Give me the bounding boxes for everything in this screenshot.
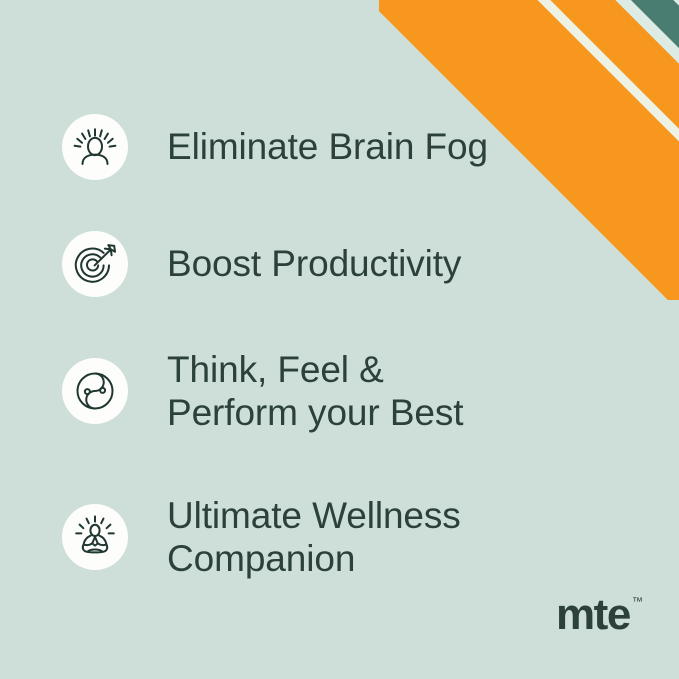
benefit-label: Boost Productivity [167, 242, 461, 286]
icon-badge [62, 358, 128, 424]
icon-badge [62, 231, 128, 297]
brand-logo: mte ™ [556, 593, 643, 637]
yin-yang-icon [73, 369, 117, 413]
icon-badge [62, 504, 128, 570]
benefit-item-boost-productivity: Boost Productivity [62, 231, 461, 297]
benefit-label: Eliminate Brain Fog [167, 125, 488, 169]
benefit-label: Think, Feel & Perform your Best [167, 348, 463, 435]
benefit-item-think-feel-perform: Think, Feel & Perform your Best [62, 348, 463, 435]
infographic-canvas: Eliminate Brain Fog [0, 0, 679, 679]
person-radiating-clarity-icon [72, 124, 118, 170]
benefit-item-ultimate-wellness-companion: Ultimate Wellness Companion [62, 494, 461, 581]
benefit-label: Ultimate Wellness Companion [167, 494, 461, 581]
trademark-symbol: ™ [632, 597, 643, 608]
brand-wordmark: mte [556, 593, 630, 637]
benefit-item-eliminate-brain-fog: Eliminate Brain Fog [62, 114, 488, 180]
target-arrow-icon [72, 241, 118, 287]
meditating-person-icon [72, 514, 118, 560]
icon-badge [62, 114, 128, 180]
